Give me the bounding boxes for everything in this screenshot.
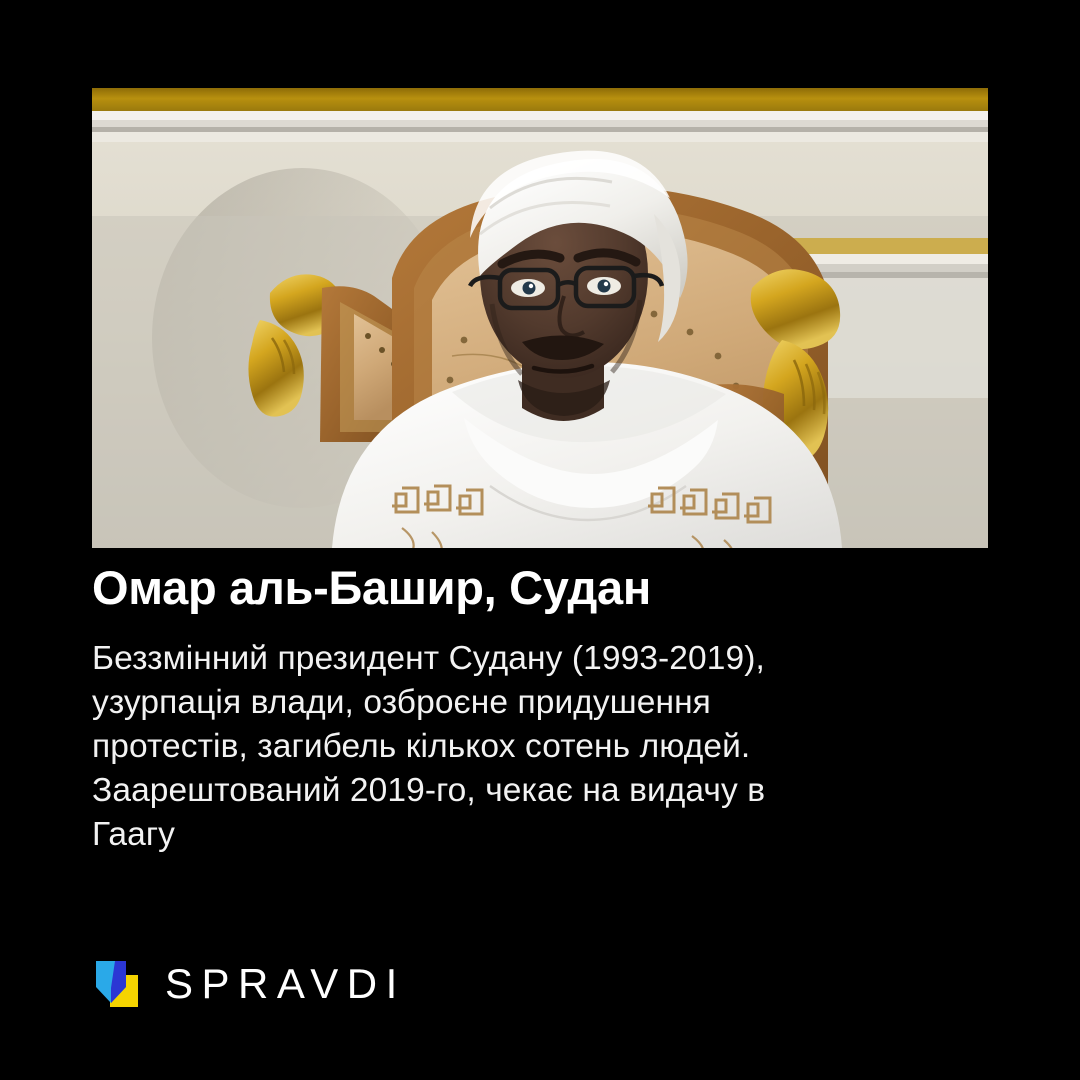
description-line: Беззмінний президент Судану (1993-2019), [92, 637, 952, 681]
description-line: Заарештований 2019-го, чекає на видачу в [92, 769, 952, 813]
description-line: узурпація влади, озброєне придушення [92, 681, 952, 725]
description-text: Беззмінний президент Судану (1993-2019),… [92, 637, 952, 857]
description-line: Гаагу [92, 813, 952, 857]
subject-photo [92, 88, 988, 548]
spravdi-logo-icon [92, 957, 144, 1011]
page-title: Омар аль-Башир, Судан [92, 563, 972, 613]
infographic-card: Омар аль-Башир, Судан Беззмінний президе… [0, 0, 1080, 1080]
description-line: протестів, загибель кількох сотень людей… [92, 725, 952, 769]
spravdi-wordmark: SPRAVDI [165, 963, 406, 1005]
spravdi-logo: SPRAVDI [92, 957, 406, 1011]
photo-illustration [92, 88, 988, 548]
